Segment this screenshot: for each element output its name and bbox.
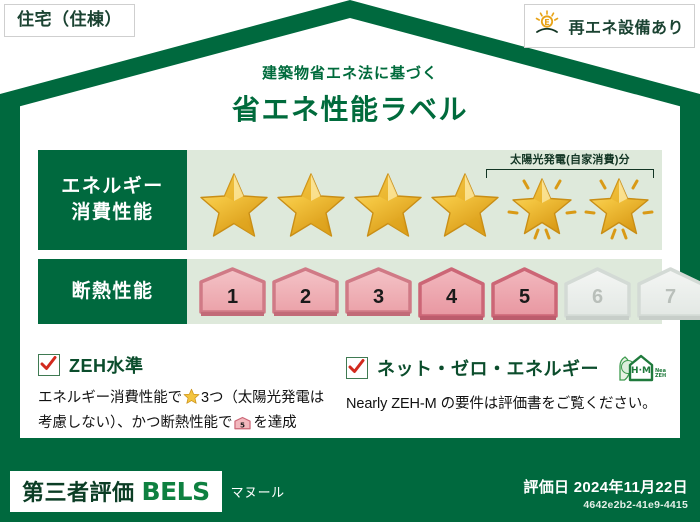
energy-row-body: 太陽光発電(自家消費)分 [187, 150, 662, 250]
inline-star-icon [183, 393, 200, 409]
info-columns: ZEH水準 エネルギー消費性能で3つ（太陽光発電は考慮しない）、かつ断熱性能で5… [38, 352, 666, 439]
dwelling-type-tag: 住宅（住棟） [4, 4, 135, 37]
checkbox-checked-icon [38, 354, 60, 376]
zeh-standard-description: エネルギー消費性能で3つ（太陽光発電は考慮しない）、かつ断熱性能で5を達成 [38, 387, 328, 439]
svg-text:ZEH-M: ZEH-M [655, 373, 666, 379]
energy-performance-label: 住宅（住棟） E 再エネ設備あり 建築物省エネ法に基づく 省エネ性能ラベル [0, 0, 700, 522]
net-zero-energy-title: ネット・ゼロ・エネルギー [377, 355, 599, 381]
insulation-level-badge: 4 [416, 266, 487, 318]
energy-performance-row: エネルギー 消費性能 太陽光発電(自家消費)分 [38, 150, 662, 250]
zeh-standard-block: ZEH水準 エネルギー消費性能で3つ（太陽光発電は考慮しない）、かつ断熱性能で5… [38, 352, 328, 439]
zeh-desc-part1: エネルギー消費性能で [38, 390, 182, 406]
solar-generation-annotation: 太陽光発電(自家消費)分 [486, 151, 654, 178]
solar-sun-icon: E [533, 9, 561, 42]
inline-house-badge-icon: 5 [234, 419, 251, 435]
renewable-badge-label: 再エネ設備あり [568, 14, 684, 38]
energy-label-line2: 消費性能 [71, 200, 153, 226]
star-filled [351, 164, 426, 248]
title-subtitle: 建築物省エネ法に基づく [0, 62, 700, 83]
net-zero-energy-description: Nearly ZEH-M の要件は評価書をご覧ください。 [346, 393, 666, 415]
solar-bracket [486, 169, 654, 178]
insulation-level-badge: 5 [489, 266, 560, 318]
insulation-performance-row: 断熱性能 1 [38, 259, 662, 324]
insulation-level-badge: 3 [343, 266, 414, 318]
footer-eval-block: 評価日 2024年11月22日 4642e2b2-41e9-4415 [523, 476, 688, 511]
net-zero-energy-block: ネット・ゼロ・エネルギー H·M Nearly ZEH-M Nearly ZEH… [346, 352, 666, 439]
solar-annotation-label: 太陽光発電(自家消費)分 [486, 151, 654, 167]
bels-jp-label: 第三者評価 [22, 475, 135, 507]
svg-text:E: E [545, 18, 550, 27]
insulation-level-scale: 1 2 3 [197, 266, 700, 318]
svg-text:5: 5 [240, 421, 245, 430]
insulation-row-label: 断熱性能 [38, 259, 187, 324]
insulation-level-badge: 1 [197, 266, 268, 318]
zeh-standard-title: ZEH水準 [69, 352, 144, 378]
evaluation-date: 評価日 2024年11月22日 [523, 476, 688, 497]
insulation-row-body: 1 2 3 [187, 259, 662, 324]
energy-label-line1: エネルギー [61, 174, 164, 200]
bels-en-label: BELS [142, 477, 210, 506]
label-title-block: 建築物省エネ法に基づく 省エネ性能ラベル [0, 62, 700, 128]
svg-text:H·M: H·M [631, 366, 651, 376]
zeh-standard-header: ZEH水準 [38, 352, 328, 378]
renewable-equipment-badge: E 再エネ設備あり [524, 4, 695, 48]
insulation-level-badge: 6 [562, 266, 633, 318]
page-title: 省エネ性能ラベル [0, 88, 700, 128]
insulation-level-badge: 7 [635, 266, 700, 318]
star-filled [197, 164, 272, 248]
maker-name: マヌール [231, 482, 285, 501]
zeh-desc-part3: を達成 [253, 415, 296, 431]
energy-row-label: エネルギー 消費性能 [38, 150, 187, 250]
checkbox-checked-icon [346, 357, 368, 379]
footer-bels-block: 第三者評価 BELS マヌール [10, 471, 285, 512]
net-zero-energy-header: ネット・ゼロ・エネルギー H·M Nearly ZEH-M [346, 352, 666, 384]
nearly-zeh-m-logo: H·M Nearly ZEH-M [614, 352, 666, 384]
evaluation-id: 4642e2b2-41e9-4415 [523, 499, 688, 511]
star-filled [274, 164, 349, 248]
insulation-level-badge: 2 [270, 266, 341, 318]
performance-rows: エネルギー 消費性能 太陽光発電(自家消費)分 [38, 150, 662, 333]
bels-badge: 第三者評価 BELS [10, 471, 222, 512]
